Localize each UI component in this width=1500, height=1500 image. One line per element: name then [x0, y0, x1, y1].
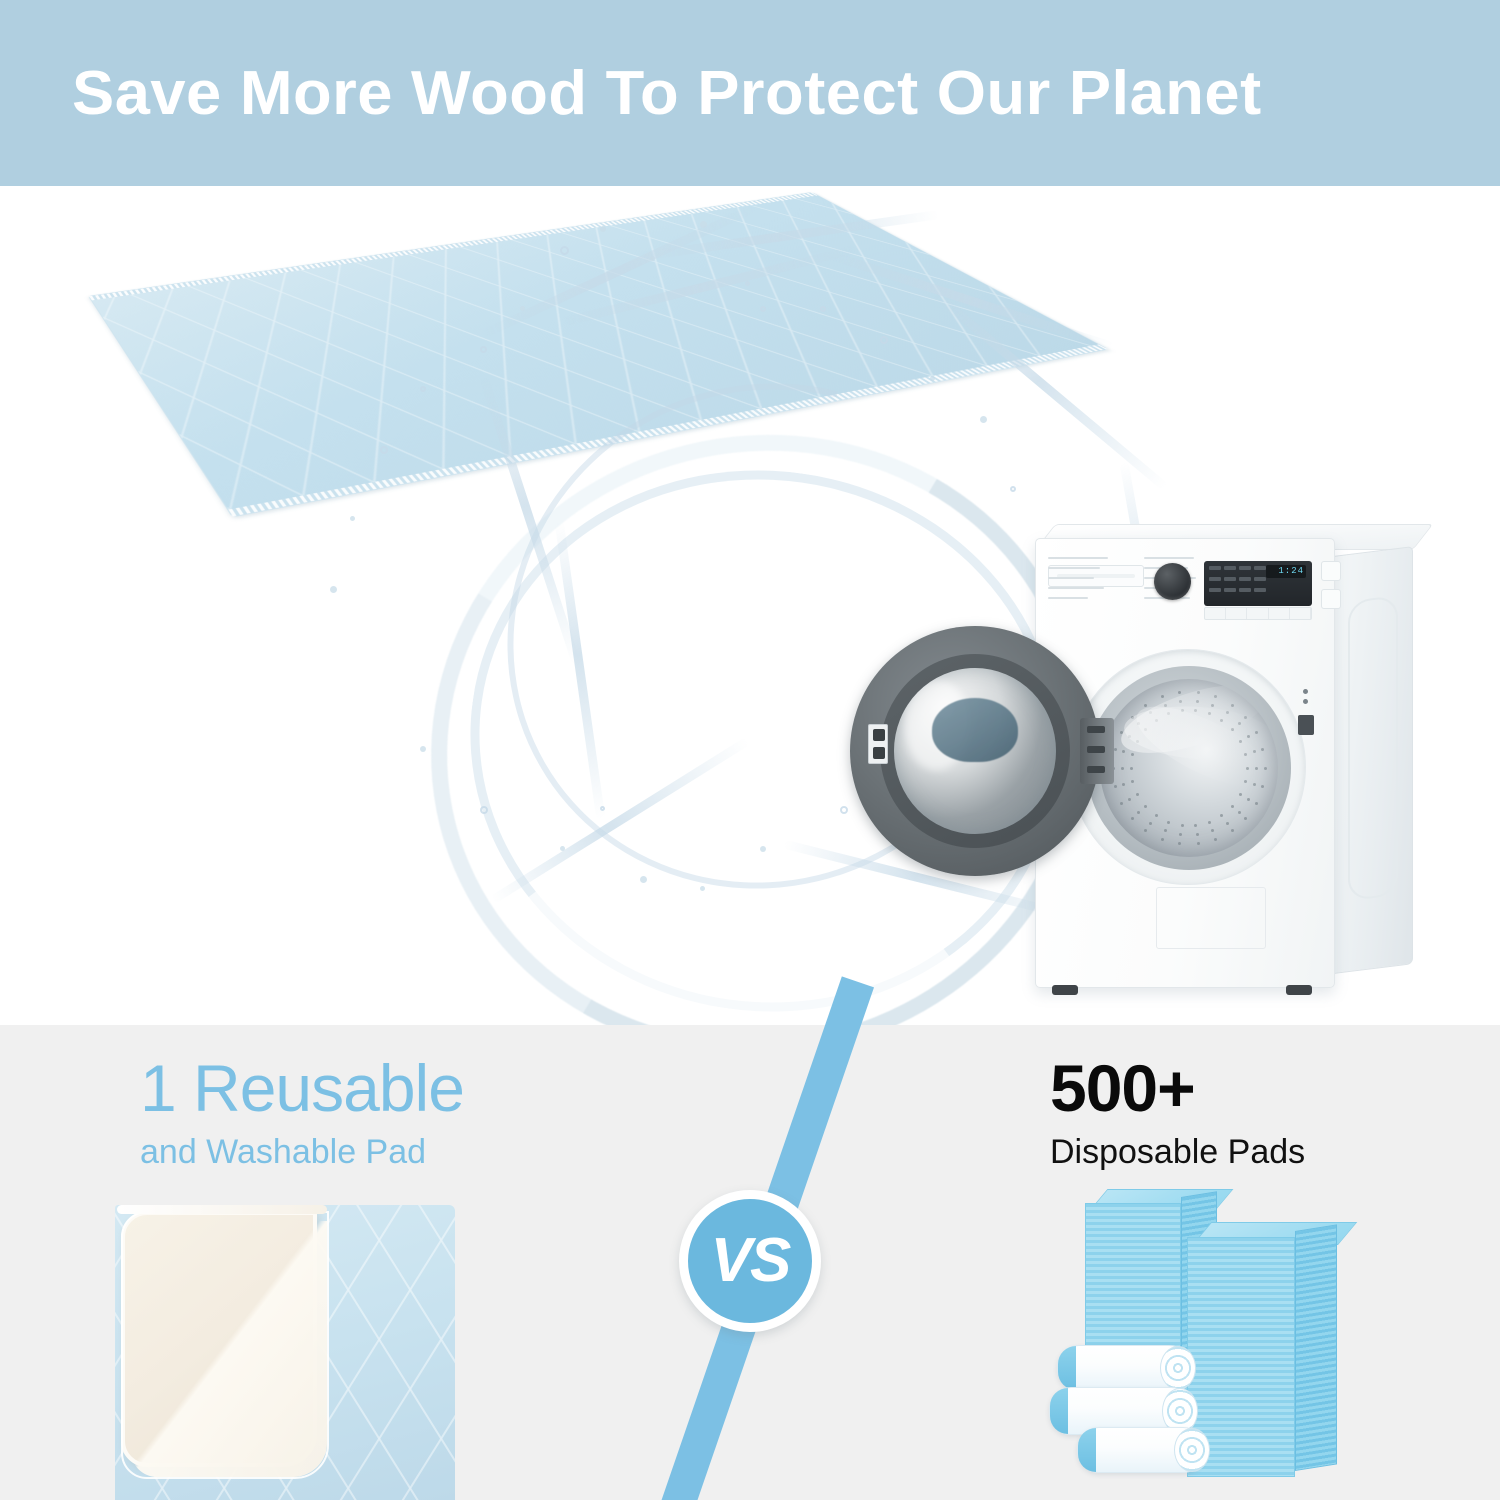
door-glass-porthole [894, 668, 1056, 834]
roll-spiral-end [1160, 1346, 1196, 1390]
splash-droplet [480, 806, 488, 814]
washer-drum [1100, 679, 1278, 857]
control-panel-display: 1:24 [1204, 561, 1312, 606]
panel-indicator-leds [1209, 566, 1269, 600]
splash-droplet [560, 846, 565, 851]
splash-droplet [1010, 486, 1016, 492]
disposable-headline: 500+ [1050, 1055, 1305, 1121]
washer-button-row[interactable] [1204, 607, 1312, 620]
washer-side-groove [1348, 595, 1398, 901]
splash-droplet [840, 806, 848, 814]
washing-machine: 1:24 [1000, 516, 1420, 1006]
service-panel [1156, 887, 1266, 949]
door-hinge [1080, 718, 1114, 784]
pad-layer-top [88, 192, 1109, 517]
pad-quilt-pattern [89, 193, 1107, 517]
reusable-headline: 1 Reusable [140, 1055, 464, 1121]
pad-folded-corner [121, 1211, 317, 1467]
drum-outer-ring [1087, 666, 1291, 870]
roll-spiral-end [1174, 1428, 1210, 1472]
splash-droplet [700, 886, 705, 891]
roll-blue-edge [1078, 1428, 1096, 1472]
splash-droplet [980, 416, 987, 423]
disposable-subheadline: Disposable Pads [1050, 1133, 1305, 1172]
header-banner: Save More Wood To Protect Our Planet [0, 0, 1500, 186]
rolled-pad [1077, 1427, 1205, 1473]
hero-section: 1:24 [0, 186, 1500, 1025]
power-button[interactable] [1321, 561, 1341, 581]
start-pause-button[interactable] [1321, 589, 1341, 609]
washer-side-panel [1333, 546, 1413, 974]
hero-pad-image [78, 286, 958, 806]
reusable-pad-photo [115, 1205, 455, 1500]
washer-foot [1286, 985, 1312, 995]
rolled-pad [1057, 1345, 1191, 1391]
disposable-pads-photo [1055, 1195, 1385, 1500]
roll-blue-edge [1058, 1346, 1076, 1390]
door-latch [1298, 715, 1314, 735]
splash-droplet [760, 846, 766, 852]
vs-badge: VS [679, 1190, 821, 1332]
glass-inner-reflection [932, 698, 1018, 762]
door-lock-mechanism [868, 724, 888, 764]
disposable-headline-group: 500+ Disposable Pads [1050, 1055, 1305, 1172]
splash-droplet [640, 876, 647, 883]
door-sensor-dots [1303, 689, 1308, 709]
pad-fold-shading [131, 1221, 327, 1477]
pad-stack-front [1187, 1237, 1337, 1477]
reusable-subheadline: and Washable Pad [140, 1133, 464, 1172]
reusable-headline-group: 1 Reusable and Washable Pad [140, 1055, 464, 1172]
pad-fold-edge [117, 1205, 327, 1214]
display-time-value: 1:24 [1278, 566, 1304, 576]
program-selector-knob[interactable] [1154, 563, 1191, 600]
washer-door-open[interactable] [850, 626, 1100, 876]
page-title: Save More Wood To Protect Our Planet [72, 58, 1262, 129]
stack-side-face [1295, 1224, 1337, 1471]
washer-foot [1052, 985, 1078, 995]
vs-label: VS [711, 1230, 790, 1292]
splash-droplet [600, 806, 605, 811]
door-outer-ring [850, 626, 1100, 876]
product-infographic: Save More Wood To Protect Our Planet [0, 0, 1500, 1500]
